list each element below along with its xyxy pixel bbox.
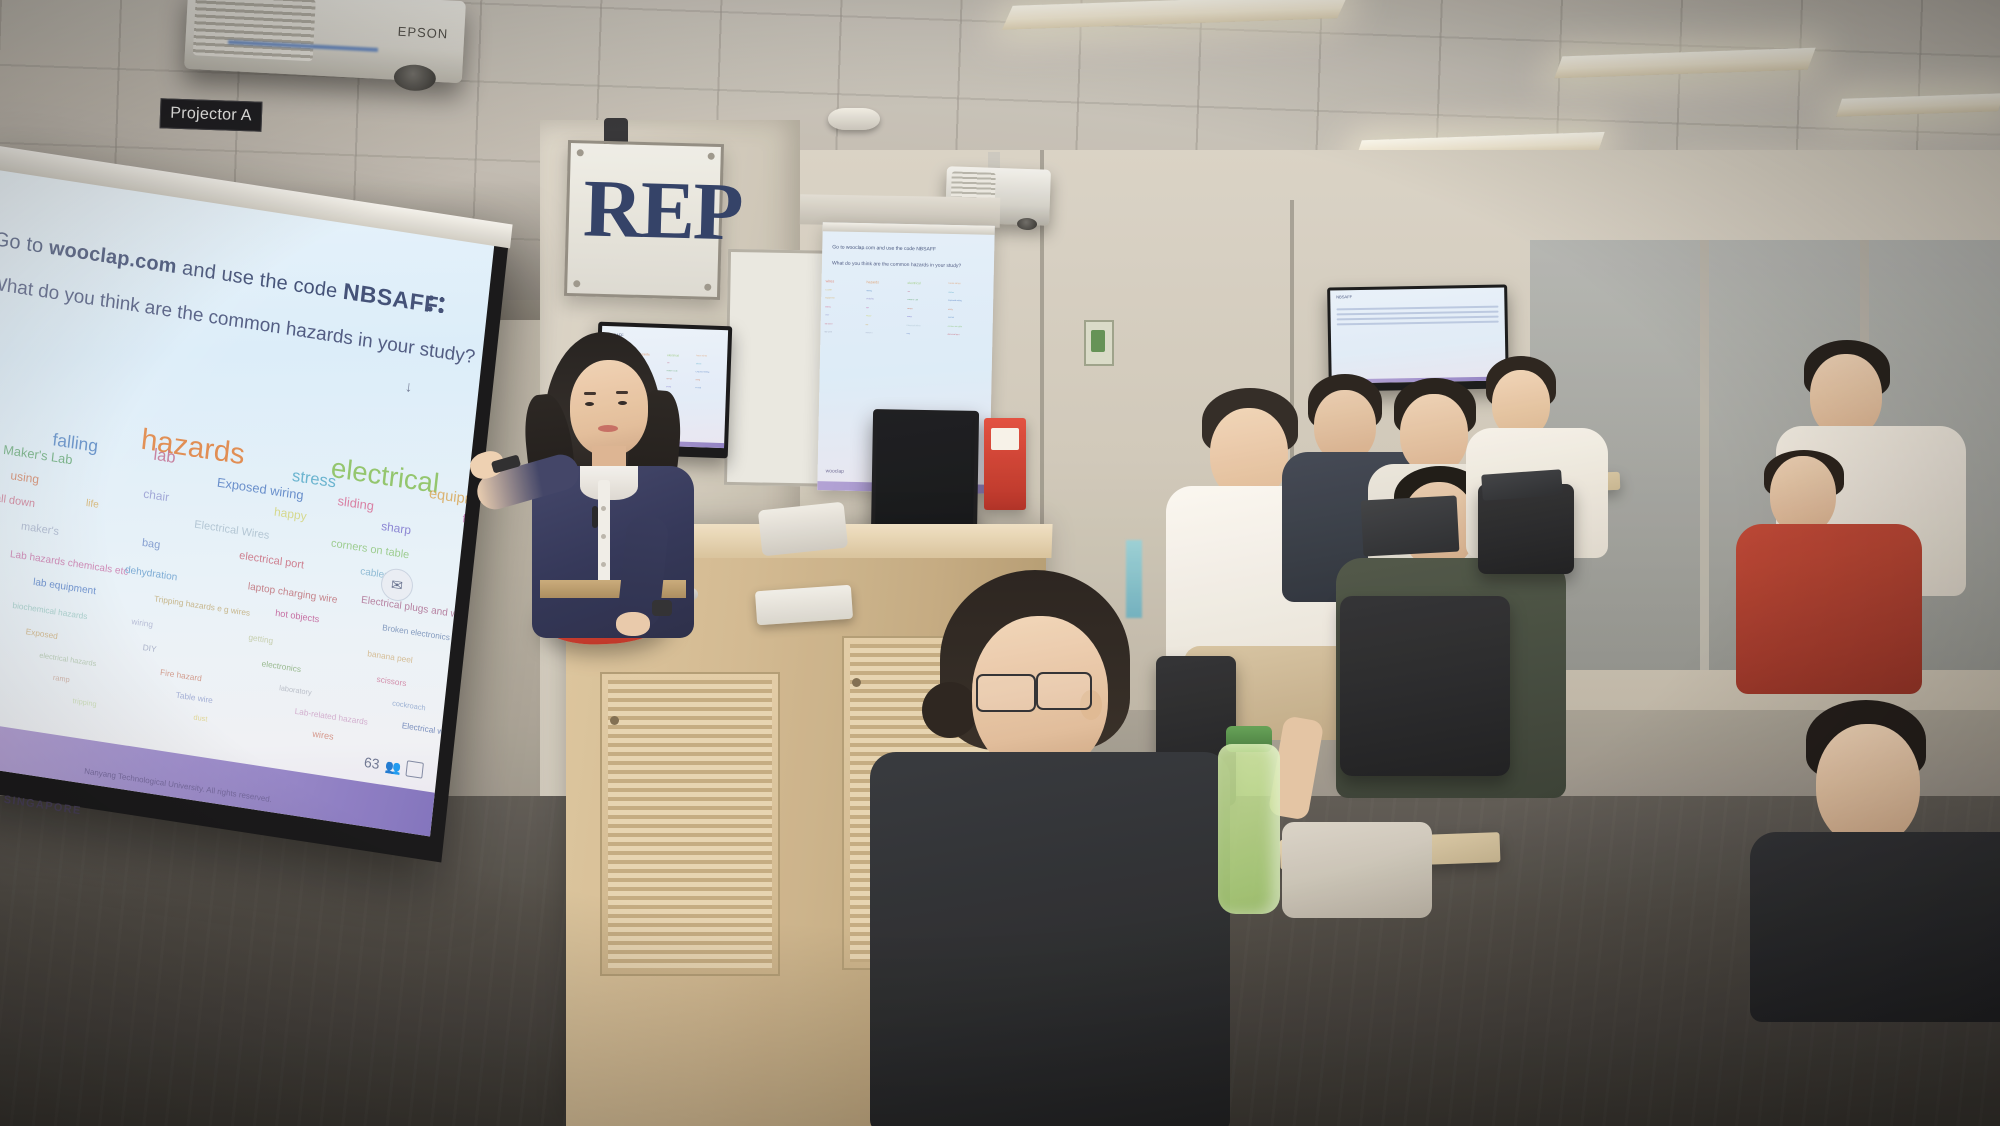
word-cloud-word: biochemical hazards xyxy=(12,601,88,621)
presenter-mouth xyxy=(598,425,618,432)
arrow-down-icon[interactable]: ↓ xyxy=(404,378,413,396)
word-cloud-word: Maker's Lab xyxy=(907,299,918,301)
student-jacket xyxy=(870,752,1230,1126)
fullscreen-icon[interactable] xyxy=(405,760,424,778)
response-count: 63 xyxy=(363,754,380,772)
student-head xyxy=(1400,394,1468,474)
cabinet-knob[interactable] xyxy=(610,716,619,725)
spare-eyeglasses xyxy=(1330,836,1460,872)
wooclap-slide: Go to wooclap.com and use the code NBSAF… xyxy=(0,166,494,836)
student-shirt xyxy=(1736,524,1922,694)
word-cloud-word: Tripping hazards e g wires xyxy=(154,594,251,617)
eyeglasses-lens xyxy=(1036,672,1092,710)
emergency-sign-glyph xyxy=(1091,330,1105,352)
alarm-face xyxy=(991,428,1019,450)
student-far-right-lower xyxy=(1740,450,1920,690)
presenter-belt xyxy=(540,580,686,598)
laptop[interactable] xyxy=(1361,496,1460,557)
sign-screw xyxy=(708,153,715,160)
word-cloud-word: wiring xyxy=(131,617,153,629)
word-cloud-word: happy xyxy=(866,315,871,317)
projector-brand-label: EPSON xyxy=(397,24,448,42)
smoke-detector xyxy=(828,108,880,130)
sign-screw xyxy=(573,280,580,287)
word-cloud-word: chair xyxy=(825,315,829,317)
word-cloud-word: studying xyxy=(866,298,873,300)
word-cloud-word: chair xyxy=(143,488,170,504)
word-cloud-word: electrical xyxy=(908,282,921,286)
classroom-photo-scene: EPSON Projector A Go to wooclap.com and … xyxy=(0,0,2000,1126)
word-cloud-word: Electrical Wires xyxy=(194,520,270,542)
lapel-microphone xyxy=(592,506,598,528)
word-cloud-word: bag xyxy=(906,333,909,335)
word-cloud-word: tripping xyxy=(72,697,97,708)
monitor-right-rows xyxy=(1336,306,1498,329)
word-cloud-word: lab work xyxy=(824,332,831,334)
word-cloud-word: fall down xyxy=(825,323,833,325)
word-cloud-word: ramp xyxy=(53,674,70,684)
word-cloud-word: Electrical Wires xyxy=(907,325,921,327)
presenter-eye xyxy=(618,401,627,405)
slide-header: Go to wooclap.com and use the code NBSAF… xyxy=(0,224,471,367)
word-cloud-word: getting xyxy=(248,633,274,645)
rep-sign: REP xyxy=(564,140,724,300)
word-cloud-word: life xyxy=(85,499,99,511)
join-instruction-prefix: Go to xyxy=(0,228,50,258)
projector-a-sign: Projector A xyxy=(160,98,263,132)
word-cloud-word: Fire hazard xyxy=(160,668,202,683)
word-cloud-word: lab equipment xyxy=(33,578,97,598)
word-cloud-word: sliding xyxy=(825,306,831,308)
cabinet-door[interactable] xyxy=(600,672,780,976)
word-cloud-word: cockroach xyxy=(392,699,426,711)
blouse-button xyxy=(601,534,606,539)
word-cloud-word: scissors xyxy=(376,675,407,688)
presenter-eye xyxy=(585,402,594,406)
projector-vent xyxy=(193,0,316,61)
fire-alarm-call-point[interactable] xyxy=(984,418,1026,510)
word-cloud-word: Lab-related hazards xyxy=(294,707,368,726)
people-icon: 👥 xyxy=(384,758,402,776)
qr-grid-icon[interactable] xyxy=(427,295,447,316)
row-line xyxy=(1337,321,1499,326)
word-cloud-word: sliding xyxy=(337,495,375,513)
room-background: EPSON Projector A Go to wooclap.com and … xyxy=(0,0,2000,1126)
word-cloud-word: ramps xyxy=(907,308,913,310)
secondary-join-instruction: Go to wooclap.com and use the code NBSAF… xyxy=(832,244,936,252)
presenter xyxy=(470,330,740,630)
word-cloud-word: maker's xyxy=(865,333,872,335)
keyboard[interactable] xyxy=(755,585,853,626)
join-instruction-middle: and use the code xyxy=(175,256,344,303)
secondary-brand: wooclap xyxy=(826,468,844,474)
word-cloud-word: lab xyxy=(153,447,177,467)
cabinet-knob[interactable] xyxy=(852,678,861,687)
word-cloud-word: hot objects xyxy=(275,609,320,625)
word-cloud-word: wires xyxy=(312,730,334,742)
main-projection-screen-wrapper: Go to wooclap.com and use the code NBSAF… xyxy=(0,146,520,884)
word-cloud-word: fall down xyxy=(0,493,36,511)
word-cloud-word: falling xyxy=(866,290,871,292)
word-cloud-word: sharp xyxy=(907,316,912,318)
word-cloud-word: bag xyxy=(141,538,160,552)
word-cloud-word: equipment xyxy=(825,297,834,299)
presenter-brow xyxy=(584,392,596,395)
sign-screw xyxy=(577,149,584,156)
word-cloud-word: dust xyxy=(193,713,208,722)
word-cloud-word: wires xyxy=(826,280,835,284)
word-cloud-word: stress xyxy=(948,291,953,293)
presenter-brow xyxy=(616,391,628,394)
podium-monitor xyxy=(871,409,979,539)
word-cloud-word: hazards xyxy=(867,281,880,285)
presenter-face xyxy=(570,360,648,456)
word-cloud-word: DIY xyxy=(142,643,157,653)
student-foreground-center xyxy=(880,570,1210,1126)
word-cloud-word: using xyxy=(10,469,40,485)
projector-a-sign-text: Projector A xyxy=(170,105,252,126)
student-head xyxy=(1770,456,1836,534)
word-cloud-word: electrical hazards xyxy=(39,651,97,667)
emergency-sign xyxy=(1084,320,1114,366)
word-cloud-word: happy xyxy=(274,506,308,523)
laptop[interactable] xyxy=(1481,469,1563,501)
word-cloud-word: Lab hazards chemicals etc xyxy=(9,550,128,578)
secondary-question: What do you think are the common hazards… xyxy=(832,260,961,269)
student-jacket xyxy=(1750,832,2000,1022)
student-hair-bun xyxy=(922,682,978,738)
word-cloud-word: Broken electronics xyxy=(382,623,450,642)
secondary-word-cloud: wireshazardselectricalloose wiresLoosefa… xyxy=(824,280,989,343)
rep-sign-text: REP xyxy=(582,161,742,259)
blouse-button xyxy=(601,506,606,511)
window-mullion xyxy=(1700,240,1709,670)
word-cloud-word: fan xyxy=(866,307,869,309)
word-cloud-word: sharp xyxy=(381,520,412,536)
word-cloud-word: banana peel xyxy=(367,649,413,664)
student-foreground-right xyxy=(1770,700,2000,1000)
row-line xyxy=(1337,311,1499,316)
word-cloud-word: electrical port xyxy=(947,334,959,336)
ceiling-projector-a: EPSON xyxy=(184,0,466,83)
blouse-button xyxy=(601,562,606,567)
sign-screw xyxy=(704,284,711,291)
water-bottle xyxy=(1218,744,1280,914)
document-camera xyxy=(758,502,848,557)
word-cloud-word: electrical port xyxy=(239,551,305,572)
word-cloud-word: lab xyxy=(907,291,910,293)
presenter-right-hand xyxy=(616,612,650,636)
word-cloud-word: Table wire xyxy=(175,691,213,705)
word-cloud-word: Exposed wiring xyxy=(948,300,962,302)
podium-monitor-screen xyxy=(875,413,975,535)
wooclap-link[interactable]: wooclap.com xyxy=(48,237,178,278)
word-cloud-word: electronics xyxy=(261,659,301,673)
word-cloud: wireshazardselectricalloose wiresLoosefa… xyxy=(0,383,494,745)
word-cloud-word: laptop charging wire xyxy=(247,582,337,606)
row-line xyxy=(1336,306,1498,311)
word-cloud-word: maker's xyxy=(20,521,59,538)
word-cloud-word: electrical xyxy=(330,454,441,498)
word-cloud-word: corners on table xyxy=(330,538,409,561)
word-cloud-word: using xyxy=(948,309,953,311)
word-cloud-word: dehydration xyxy=(124,566,177,584)
word-cloud-word: laboratory xyxy=(279,684,312,696)
eyeglasses-lens xyxy=(976,674,1036,712)
word-cloud-word: life xyxy=(866,324,869,326)
word-cloud-word: Loose xyxy=(825,289,831,291)
row-line xyxy=(1337,316,1499,321)
word-cloud-word: Exposed xyxy=(25,627,58,640)
wristwatch xyxy=(652,600,672,616)
word-cloud-word: loose wires xyxy=(949,283,961,286)
word-cloud-word: corners on table xyxy=(948,326,962,328)
cabinet-louver xyxy=(608,680,772,968)
student-head xyxy=(1816,724,1920,846)
join-instruction: Go to wooclap.com and use the code NBSAF… xyxy=(0,224,471,324)
seat-chair xyxy=(1340,596,1510,776)
word-cloud-word: mental xyxy=(948,317,954,319)
monitor-right-header: NBSAFF xyxy=(1336,294,1352,299)
session-code: NBSAFF xyxy=(342,278,440,318)
